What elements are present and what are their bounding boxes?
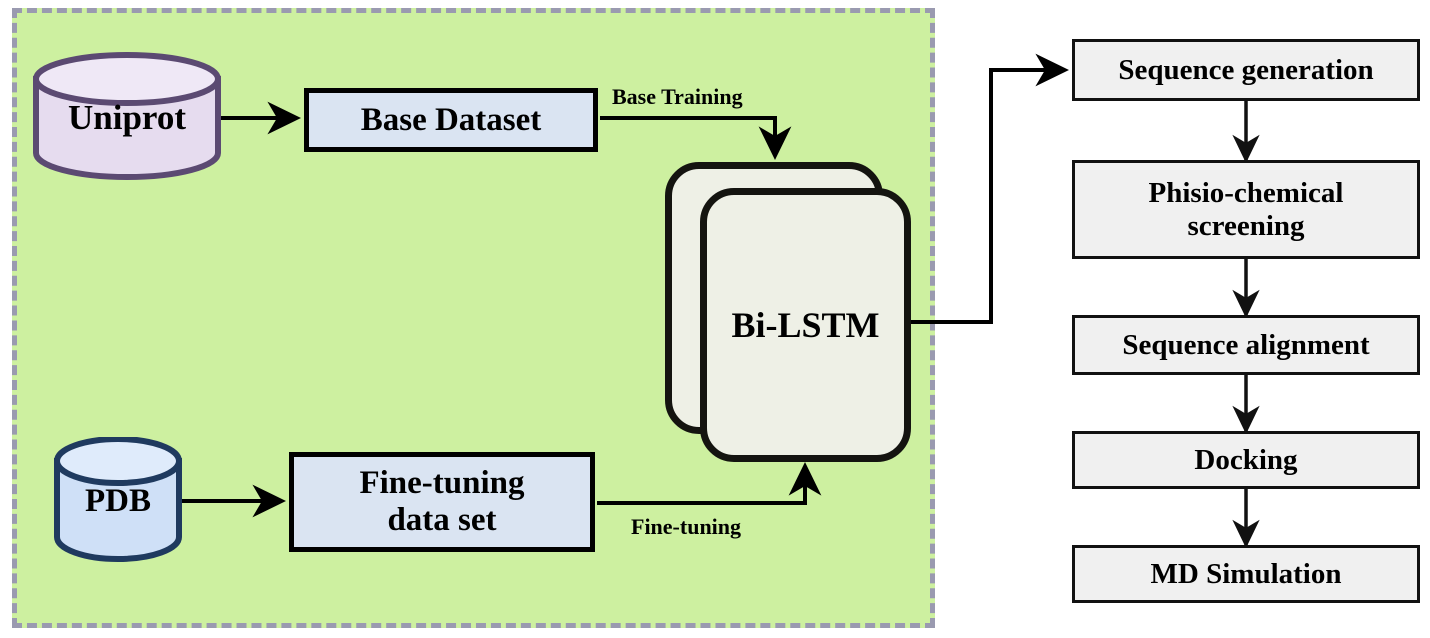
phisio-chemical-screening-label-line1: Phisio-chemical [1149,177,1344,209]
pipeline-step-phisio-chemical-screening[interactable]: Phisio-chemical screening [1072,160,1420,259]
cylinder-icon [31,52,223,180]
bi-lstm-node[interactable]: Bi-LSTM [700,188,911,462]
base-dataset-box[interactable]: Base Dataset [304,88,598,152]
bi-lstm-label: Bi-LSTM [731,305,879,345]
pipeline-step-md-simulation[interactable]: MD Simulation [1072,545,1420,603]
flowchart-canvas: Uniprot PDB Base Dataset Fine-tuning dat… [0,0,1430,638]
sequence-generation-label: Sequence generation [1118,54,1373,86]
base-training-label: Base Training [612,84,743,110]
fine-tuning-dataset-box[interactable]: Fine-tuning data set [289,452,595,552]
pipeline-step-docking[interactable]: Docking [1072,431,1420,489]
pdb-database-node[interactable]: PDB [52,437,184,563]
fine-tuning-dataset-label-line2: data set [387,502,496,539]
docking-label: Docking [1194,444,1297,476]
pipeline-step-sequence-alignment[interactable]: Sequence alignment [1072,315,1420,375]
fine-tuning-dataset-label-line1: Fine-tuning [359,465,524,502]
sequence-alignment-label: Sequence alignment [1122,329,1369,361]
pipeline-step-sequence-generation[interactable]: Sequence generation [1072,39,1420,101]
fine-tuning-label: Fine-tuning [631,514,741,540]
cylinder-icon [52,437,184,563]
md-simulation-label: MD Simulation [1151,558,1342,590]
uniprot-database-node[interactable]: Uniprot [31,52,223,180]
base-dataset-label: Base Dataset [361,102,542,139]
phisio-chemical-screening-label-line2: screening [1187,210,1304,242]
